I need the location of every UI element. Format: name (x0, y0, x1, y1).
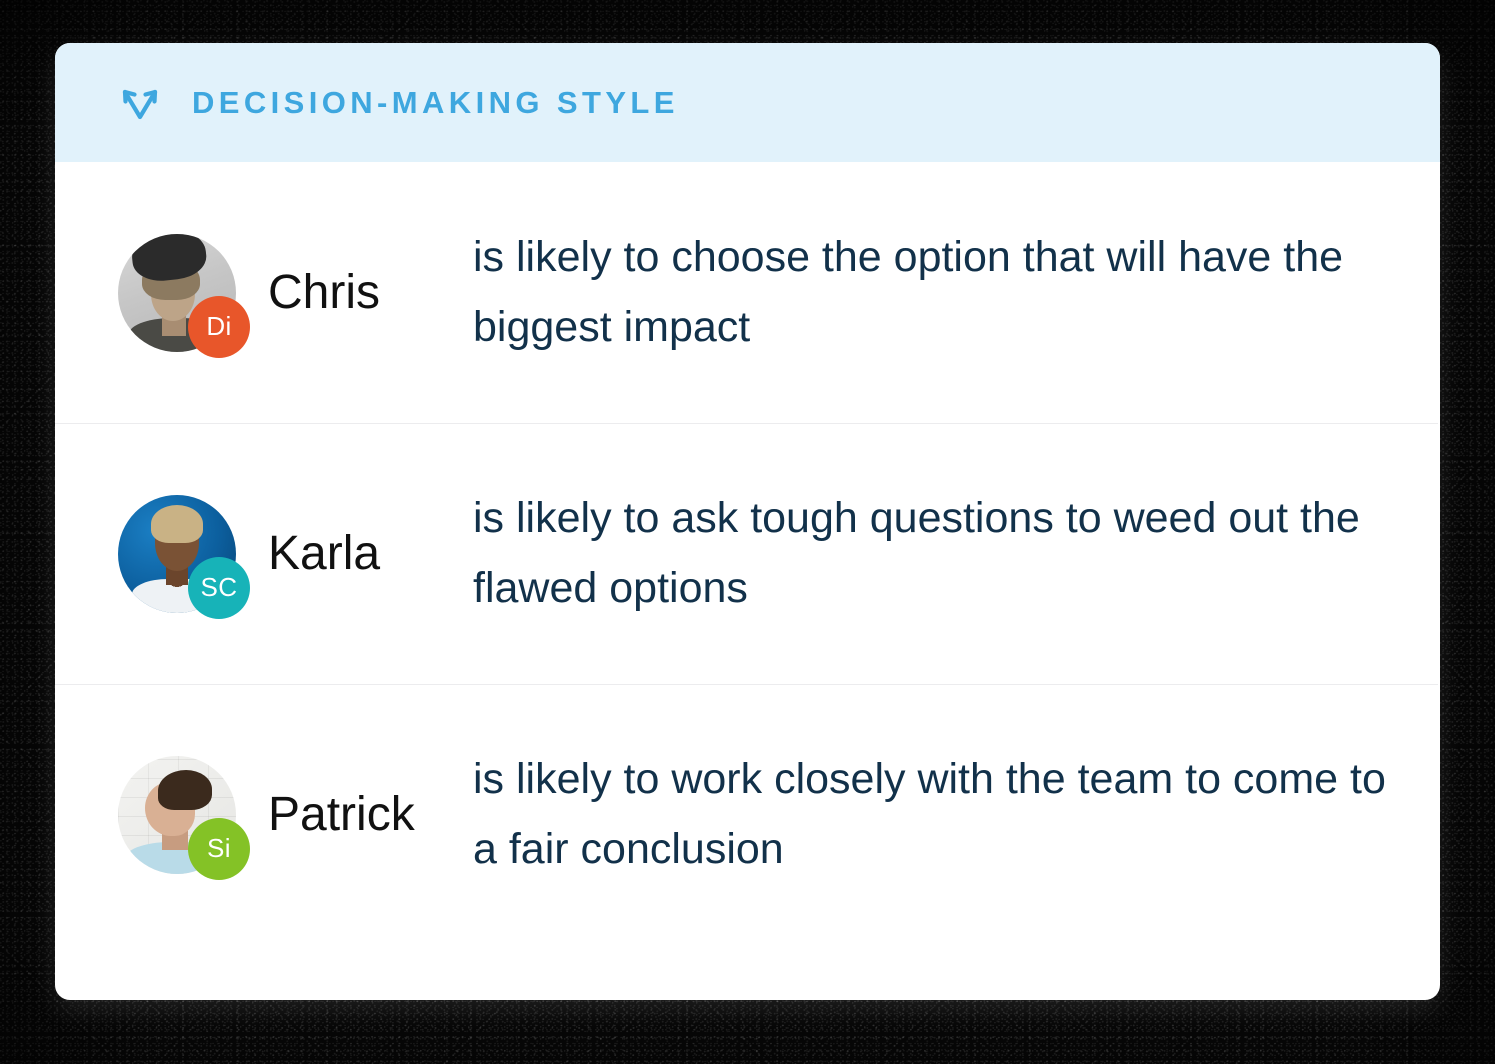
avatar: Di (118, 234, 236, 352)
decision-fork-icon (118, 82, 162, 126)
person-description: is likely to ask tough questions to weed… (473, 484, 1410, 623)
person-name: Chris (268, 265, 380, 320)
decision-making-style-card: DECISION-MAKING STYLE Di Chris is likel (55, 43, 1440, 1000)
person-name: Karla (268, 526, 380, 581)
avatar: SC (118, 495, 236, 613)
page-title: DECISION-MAKING STYLE (192, 85, 679, 121)
person-description: is likely to work closely with the team … (473, 745, 1410, 884)
avatar: Si (118, 756, 236, 874)
status-badge: SC (188, 557, 250, 619)
person-rows: Di Chris is likely to choose the option … (55, 162, 1440, 945)
card-header: DECISION-MAKING STYLE (55, 43, 1440, 162)
person-patrick: Si Patrick (118, 756, 473, 874)
person-chris: Di Chris (118, 234, 473, 352)
table-row: Si Patrick is likely to work closely wit… (55, 684, 1440, 945)
person-karla: SC Karla (118, 495, 473, 613)
person-description: is likely to choose the option that will… (473, 223, 1410, 362)
table-row: Di Chris is likely to choose the option … (55, 162, 1440, 423)
table-row: SC Karla is likely to ask tough question… (55, 423, 1440, 684)
person-name: Patrick (268, 787, 415, 842)
status-badge: Di (188, 296, 250, 358)
status-badge: Si (188, 818, 250, 880)
